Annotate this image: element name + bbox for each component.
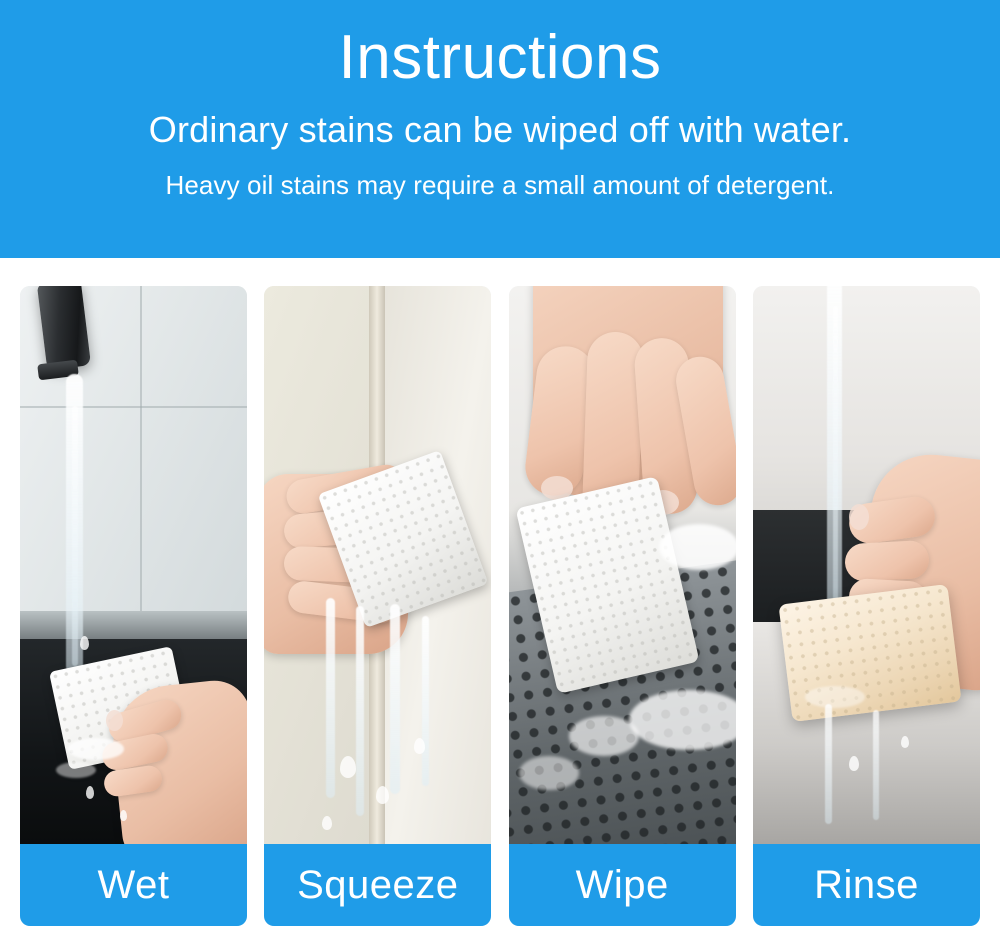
step-caption-wipe: Wipe	[509, 844, 736, 926]
steps-row: Wet	[0, 286, 1000, 926]
page-title: Instructions	[338, 22, 661, 94]
step-photo-squeeze	[264, 286, 491, 846]
scene-rinse	[753, 286, 980, 846]
step-card-squeeze: Squeeze	[264, 286, 491, 926]
step-card-rinse: Rinse	[753, 286, 980, 926]
step-card-wet: Wet	[20, 286, 247, 926]
sponge	[778, 584, 961, 722]
header-banner: Instructions Ordinary stains can be wipe…	[0, 0, 1000, 258]
step-caption-wet: Wet	[20, 844, 247, 926]
scene-squeeze	[264, 286, 491, 846]
step-caption-rinse: Rinse	[753, 844, 980, 926]
scene-wipe	[509, 286, 736, 846]
step-photo-wet	[20, 286, 247, 846]
step-caption-squeeze: Squeeze	[264, 844, 491, 926]
instructions-page: Instructions Ordinary stains can be wipe…	[0, 0, 1000, 935]
step-photo-rinse	[753, 286, 980, 846]
header-subtitle-primary: Ordinary stains can be wiped off with wa…	[149, 108, 852, 152]
header-subtitle-secondary: Heavy oil stains may require a small amo…	[165, 168, 834, 202]
step-card-wipe: Wipe	[509, 286, 736, 926]
scene-wet	[20, 286, 247, 846]
step-photo-wipe	[509, 286, 736, 846]
faucet-icon	[37, 286, 91, 370]
